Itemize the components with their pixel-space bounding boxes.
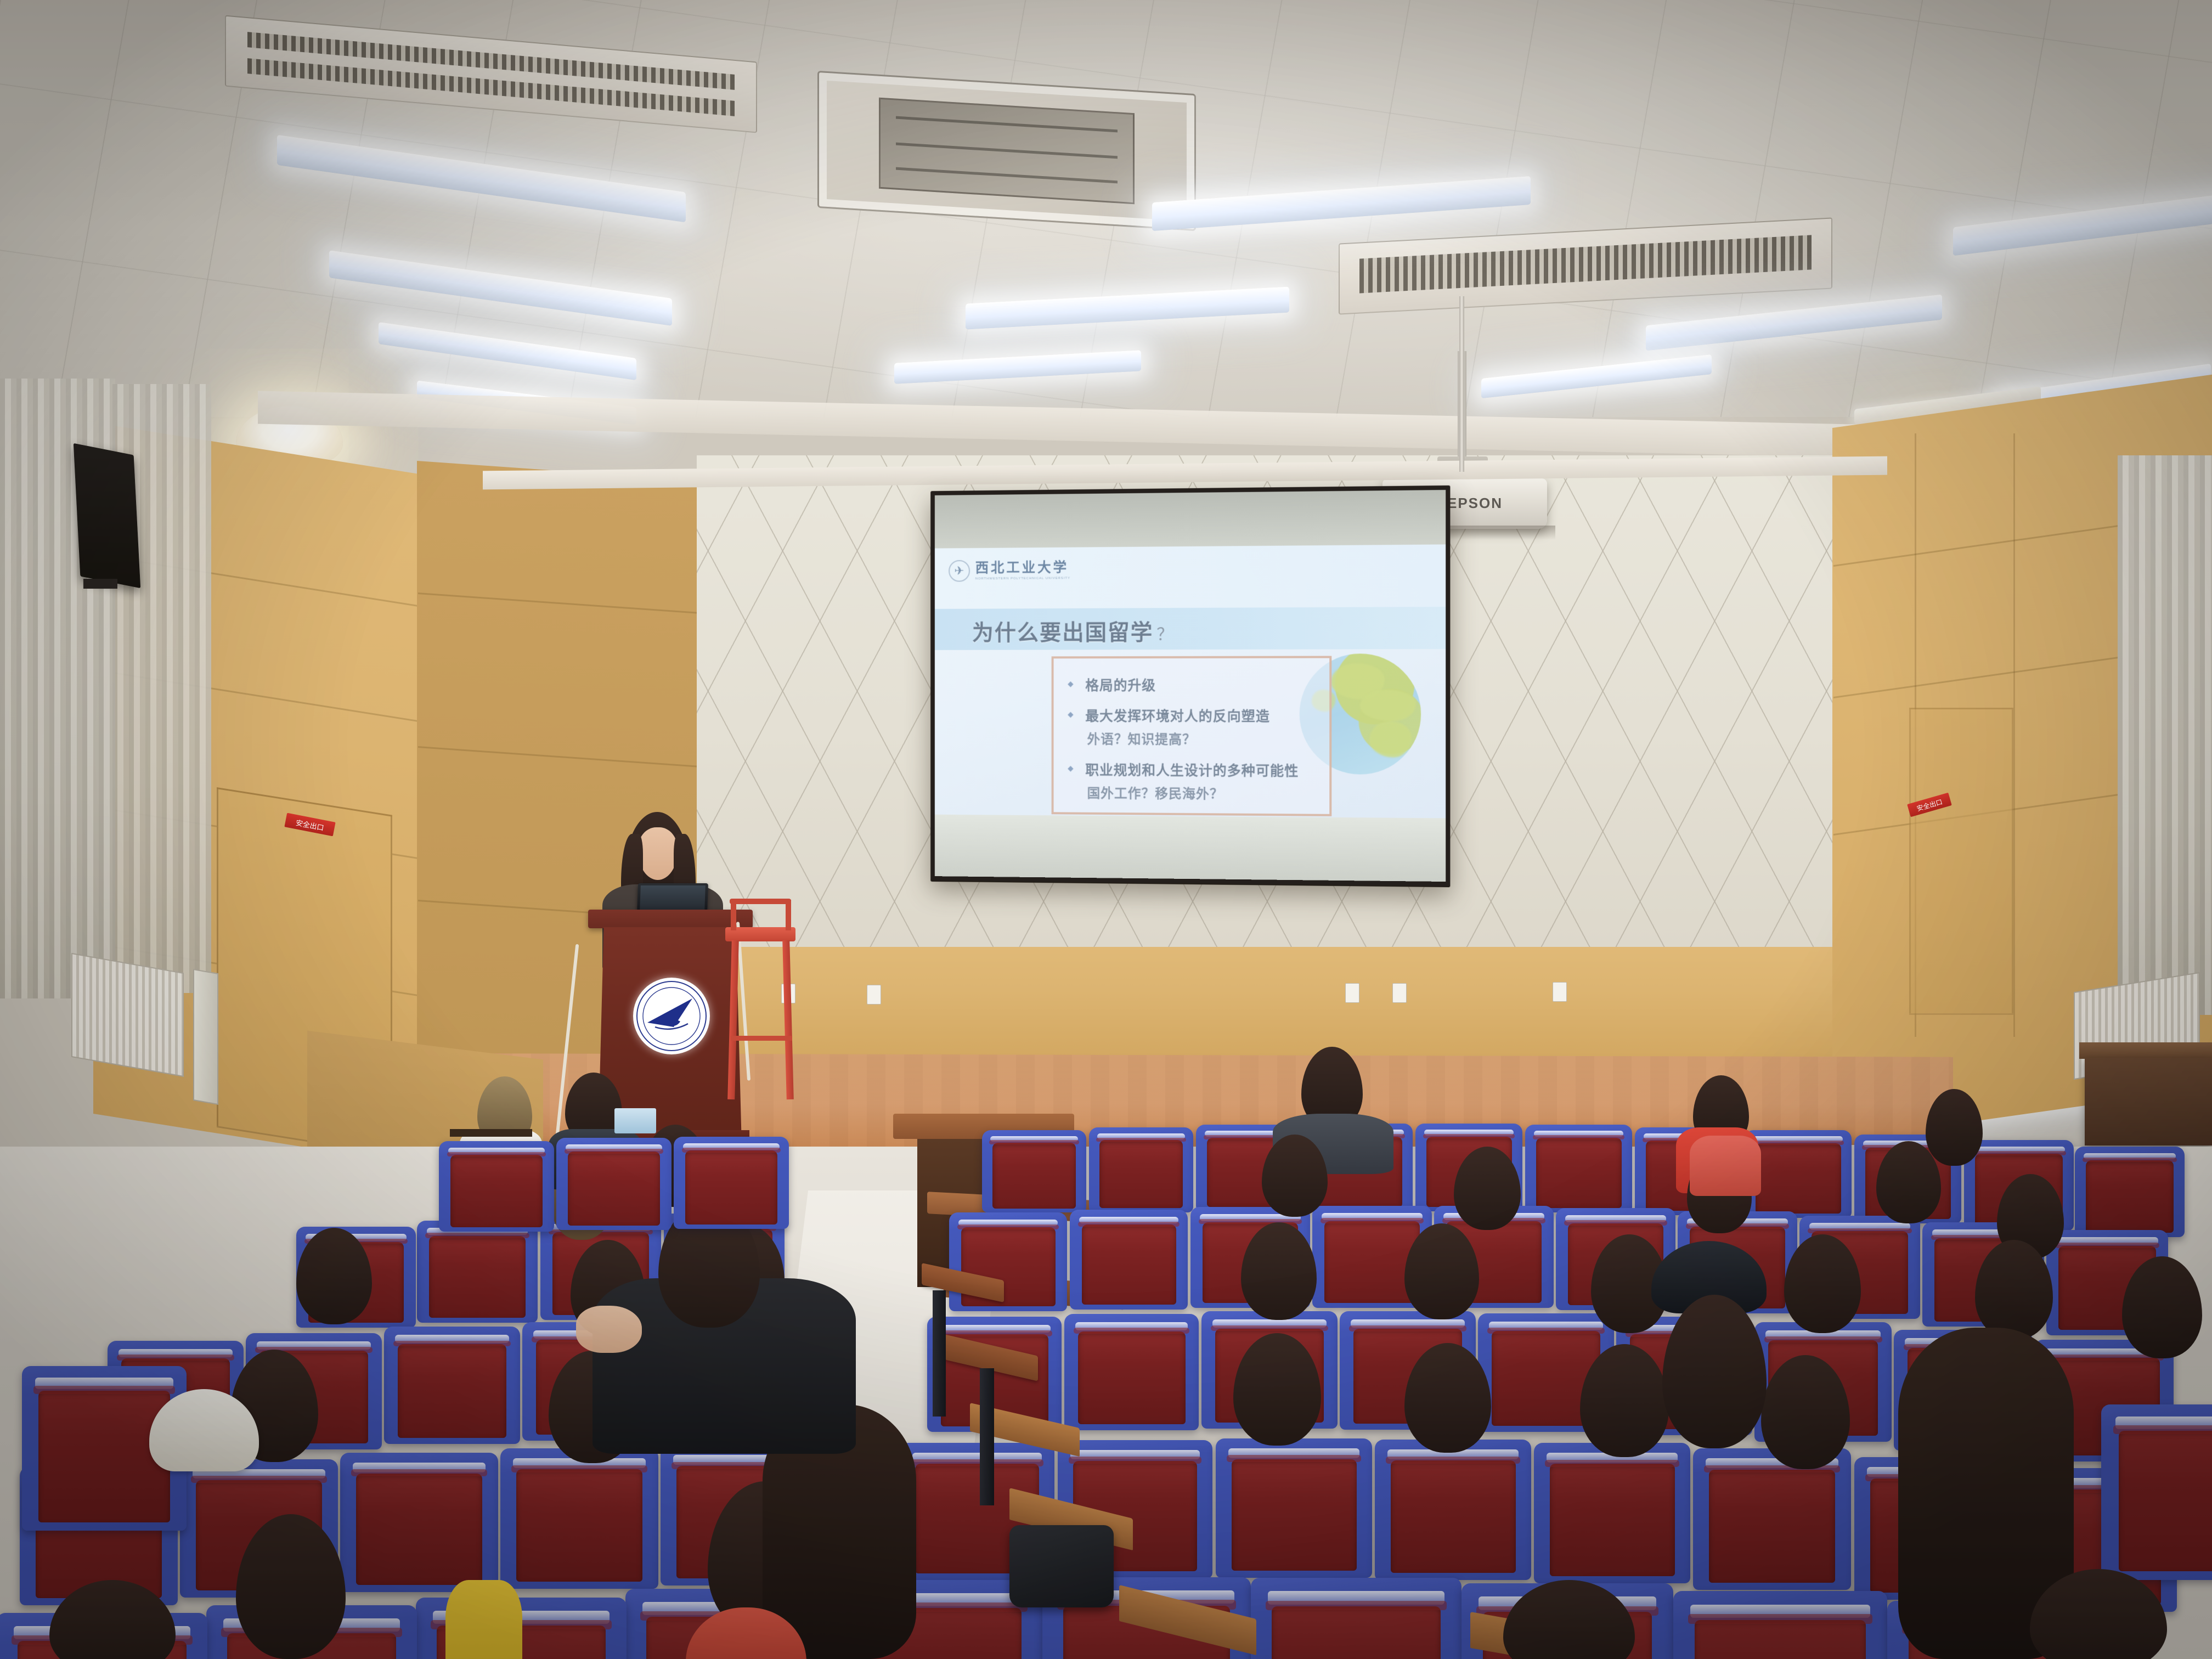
university-subtitle: NORTHWESTERN POLYTECHNICAL UNIVERSITY: [975, 577, 1070, 580]
wall-outlet[interactable]: [1345, 983, 1359, 1003]
bullet-text: 最大发挥环境对人的反向塑造: [1085, 706, 1270, 726]
podium-top: [588, 910, 753, 928]
university-emblem-icon: ✈: [949, 560, 970, 582]
right-curtain: [2118, 455, 2212, 1015]
bullet-text: 职业规划和人生设计的多种可能性: [1085, 759, 1299, 780]
wall-outlet[interactable]: [1553, 982, 1567, 1002]
auditorium-seat-foreground[interactable]: [1251, 1578, 1462, 1659]
auditorium-seat[interactable]: [1064, 1314, 1199, 1430]
wall-outlet[interactable]: [867, 985, 881, 1005]
podium-emblem-icon: [633, 978, 710, 1054]
right-door[interactable]: [1909, 708, 2013, 1015]
wall-panel-seam: [2013, 433, 2015, 1037]
seat-support-post: [980, 1368, 994, 1505]
ac-vent-icon: [817, 71, 1196, 231]
auditorium-seat[interactable]: [1525, 1125, 1632, 1212]
auditorium-seat[interactable]: [500, 1448, 658, 1589]
stool-foot-rail: [731, 1036, 792, 1041]
side-counter: [2085, 1058, 2212, 1145]
bullet-dot-icon: ◆: [1068, 759, 1074, 773]
audience-yellow-jacket: [445, 1580, 522, 1659]
slide-bullet: ◆ 职业规划和人生设计的多种可能性: [1068, 759, 1315, 780]
slide-title-question: ？: [1156, 620, 1173, 645]
wall-speaker-icon: [74, 443, 140, 588]
radiator: [71, 953, 184, 1077]
auditorium-seat[interactable]: [417, 1221, 538, 1323]
stool-back-post: [786, 900, 791, 930]
slide-bullet: ◆ 格局的升级: [1068, 675, 1315, 695]
auditorium-seat[interactable]: [384, 1327, 520, 1444]
front-row-laptop[interactable]: [614, 1108, 656, 1133]
screen-bottom-margin: [935, 815, 1446, 882]
screen-top-margin: [935, 490, 1446, 549]
projection-screen-surface: ✈ 西北工业大学 NORTHWESTERN POLYTECHNICAL UNIV…: [935, 490, 1446, 882]
auditorium-seat[interactable]: [674, 1137, 789, 1229]
stool-back-post: [731, 900, 736, 930]
auditorium-seat[interactable]: [439, 1141, 554, 1232]
leaning-board: [193, 969, 218, 1105]
auditorium-seat[interactable]: [1089, 1127, 1193, 1212]
front-row-desk: [450, 1129, 532, 1137]
audience-pink-top: [1690, 1136, 1761, 1196]
auditorium-seat[interactable]: [1534, 1443, 1690, 1583]
auditorium-seat[interactable]: [340, 1453, 498, 1592]
wall-outlet[interactable]: [1392, 983, 1407, 1003]
auditorium-seat[interactable]: [556, 1138, 672, 1230]
slide-bullet: ◆ 最大发挥环境对人的反向塑造: [1068, 706, 1315, 726]
bullet-dot-icon: ◆: [1068, 675, 1074, 689]
projection-screen-frame: ✈ 西北工业大学 NORTHWESTERN POLYTECHNICAL UNIV…: [930, 486, 1450, 886]
slide-projection: ✈ 西北工业大学 NORTHWESTERN POLYTECHNICAL UNIV…: [935, 544, 1446, 818]
projector-brand-label: EPSON: [1447, 495, 1503, 512]
slide-title: 为什么要出国留学: [972, 614, 1153, 647]
auditorium-seat[interactable]: [949, 1212, 1067, 1311]
bullet-subtext: 国外工作？移民海外？: [1087, 782, 1315, 803]
auditorium-seat[interactable]: [1070, 1210, 1188, 1310]
ceiling-pole: [1459, 296, 1464, 472]
auditorium-seat[interactable]: [1693, 1448, 1851, 1590]
nwpu-emblem-svg: [635, 980, 708, 1052]
bullet-text: 格局的升级: [1085, 675, 1156, 695]
bullet-subtext: 外语？知识提高？: [1087, 729, 1315, 748]
auditorium-seat[interactable]: [1216, 1438, 1372, 1578]
bullet-dot-icon: ◆: [1068, 706, 1074, 719]
auditorium-seat[interactable]: [982, 1130, 1086, 1212]
speaker-bracket: [83, 579, 117, 589]
slide-title-row: 为什么要出国留学 ？: [972, 614, 1173, 647]
audience-hand: [576, 1306, 642, 1353]
side-counter-top: [2079, 1042, 2212, 1059]
laptop-screen: [640, 885, 706, 912]
seat-support-post: [933, 1290, 946, 1417]
auditorium-seat[interactable]: [2075, 1147, 2185, 1237]
slide-content-box: ◆ 格局的升级 ◆ 最大发挥环境对人的反向塑造 外语？知识提高？ ◆ 职业规划和…: [1052, 656, 1332, 816]
auditorium-seat[interactable]: [1375, 1440, 1531, 1580]
university-logo: ✈ 西北工业大学 NORTHWESTERN POLYTECHNICAL UNIV…: [949, 559, 1070, 582]
floor-bag: [1009, 1525, 1114, 1607]
auditorium-seat-foreground[interactable]: [1673, 1591, 1887, 1659]
lecture-hall-photo: 安全出口 安全出口 EPSON: [0, 0, 2212, 1659]
stool-backrest: [730, 899, 791, 904]
university-name: 西北工业大学: [975, 561, 1070, 575]
auditorium-seat-foreground[interactable]: [2101, 1404, 2212, 1580]
